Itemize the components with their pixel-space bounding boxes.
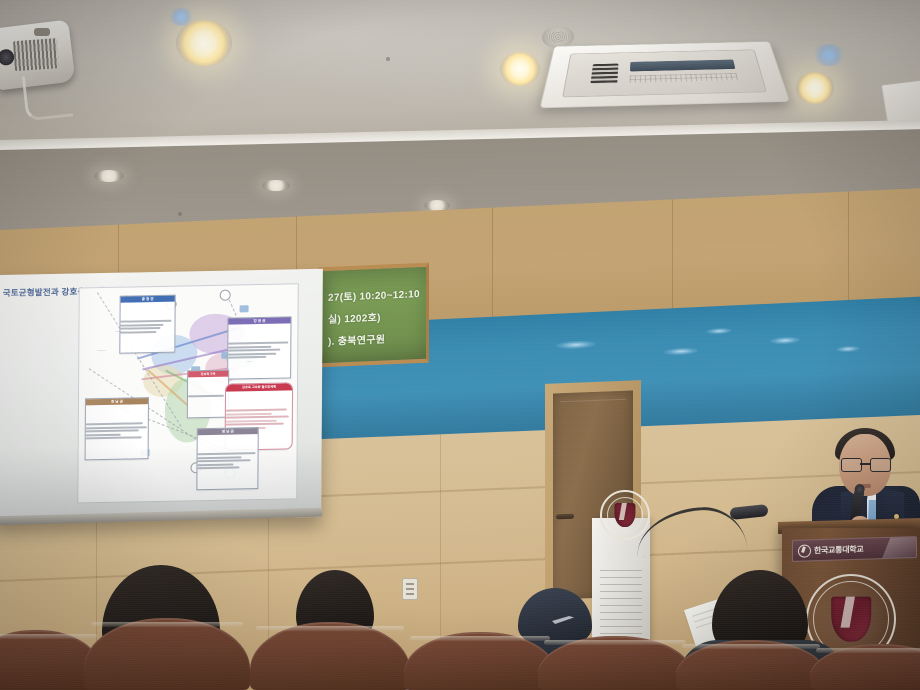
callout-header-center: 강호축 구축 xyxy=(188,371,228,378)
wall-reflection xyxy=(556,340,596,350)
callout-header-west: 호 남 권 xyxy=(86,398,148,405)
stand-grille xyxy=(600,570,642,644)
downlight-recessed-1 xyxy=(94,170,124,182)
green-notice-board: 27(토) 10:20~12:10 실) 1202호) ). 충북연구원 xyxy=(318,263,429,368)
glasses-bridge xyxy=(860,463,870,465)
stand-crest-shield-icon xyxy=(614,503,635,527)
projector-arm xyxy=(22,72,73,122)
map-callout-northeast: 강 원 권 xyxy=(227,316,291,379)
greenboard-line-3: ). 충북연구원 xyxy=(328,331,385,348)
seat-5 xyxy=(538,636,692,690)
wall-reflection xyxy=(664,347,698,356)
callout-header-south: 영 남 권 xyxy=(198,428,258,435)
wall-reflection xyxy=(770,336,800,344)
ceiling-screw-3 xyxy=(178,212,182,216)
greenboard-line-2: 실) 1202호) xyxy=(328,309,381,326)
wall-reflection xyxy=(836,345,860,352)
ac-grille xyxy=(590,64,618,84)
downlight-1 xyxy=(176,20,232,66)
light-flare-2 xyxy=(812,44,846,66)
map-annotation: ──── xyxy=(97,348,106,352)
nameplate-sheen xyxy=(880,536,917,562)
callout-body-center xyxy=(188,376,228,418)
speaker-glasses-icon xyxy=(841,458,889,470)
callout-header-north: 충 청 권 xyxy=(121,296,175,303)
map-callout-center: 강호축 구축 xyxy=(187,370,229,418)
cassette-air-conditioner xyxy=(539,41,790,108)
map-callout-west: 호 남 권 xyxy=(85,397,149,460)
map-callout-north: 충 청 권 xyxy=(119,295,175,354)
seat-6 xyxy=(676,640,826,690)
light-flare-1 xyxy=(168,8,194,26)
slide-map-diagram: 충 청 권 강 원 권 강호축 구축 강호축 고속화 철도망계획 xyxy=(77,283,299,503)
map-annotation: ── xyxy=(247,359,251,363)
callout-header-east: 강호축 고속화 철도망계획 xyxy=(226,383,292,391)
podium-nameplate-text: 한국교통대학교 xyxy=(814,543,863,556)
projector-mount xyxy=(34,28,50,36)
downlight-3 xyxy=(796,72,834,104)
nike-swoosh-icon xyxy=(552,616,574,624)
downlight-recessed-2 xyxy=(262,180,290,191)
ac-panel xyxy=(562,49,767,97)
callout-body-northeast xyxy=(228,323,290,379)
map-annotation: ─── xyxy=(115,330,121,334)
projection-screen: 국토균형발전과 강호축 구상 xyxy=(0,269,323,523)
map-city-marker xyxy=(240,305,249,312)
map-callout-south: 영 남 권 xyxy=(196,427,258,490)
door-handle[interactable] xyxy=(556,514,574,520)
lecture-hall-photo: 27(토) 10:20~12:10 실) 1202호) ). 충북연구원 국토균… xyxy=(0,0,920,690)
glasses-lens-right xyxy=(870,458,891,472)
ac-louver xyxy=(630,60,735,72)
university-logo-icon xyxy=(798,544,811,557)
stand-crest xyxy=(600,490,650,540)
callout-header-northeast: 강 원 권 xyxy=(228,317,290,324)
wall-reflection xyxy=(706,327,732,334)
callout-body-west xyxy=(86,404,148,460)
wall-power-outlet xyxy=(402,578,418,600)
glasses-lens-left xyxy=(841,458,862,472)
callout-body-north xyxy=(120,301,174,353)
seat-7 xyxy=(810,644,920,690)
downlight-2 xyxy=(500,52,540,86)
greenboard-line-1: 27(토) 10:20~12:10 xyxy=(328,285,420,304)
projector-vent xyxy=(13,38,59,71)
ac-filter-grid xyxy=(630,73,738,83)
crest-shield-icon xyxy=(831,597,871,642)
seat-4 xyxy=(404,632,556,690)
ceiling-screw-1 xyxy=(386,57,390,61)
podium-nameplate: 한국교통대학교 xyxy=(792,536,917,562)
callout-body-south xyxy=(197,434,257,490)
